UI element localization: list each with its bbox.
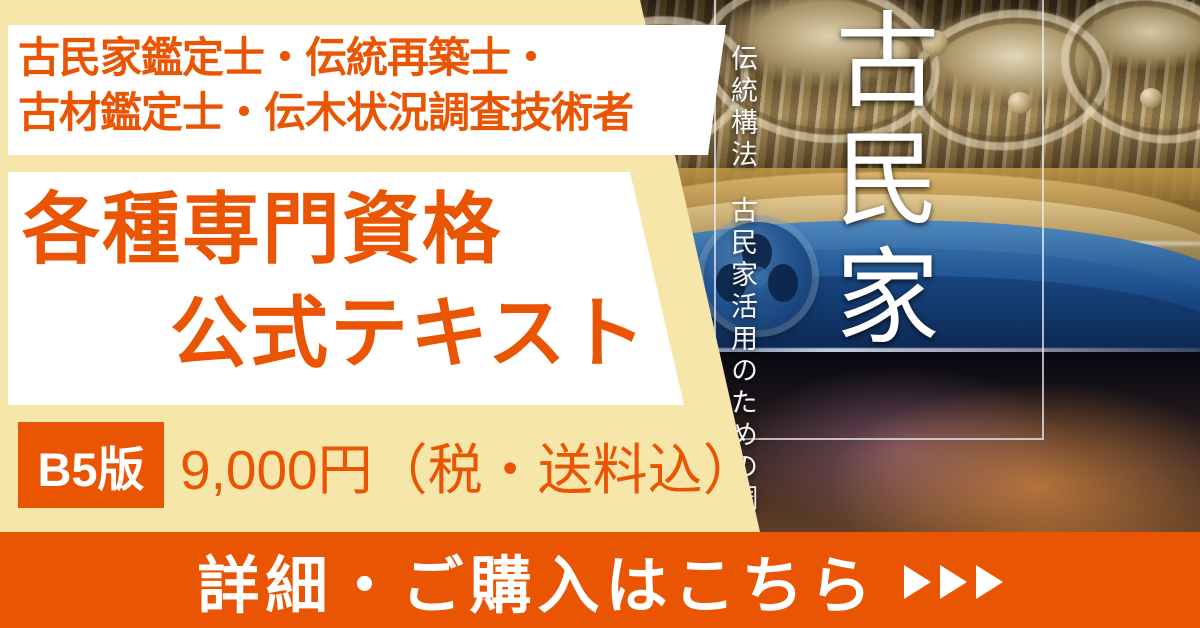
qualifications-headline: 古民家鑑定士・伝統再築士・ 古材鑑定士・伝木状況調査技術者	[18, 30, 718, 141]
main-title-line-1: 各種専門資格	[0, 178, 676, 282]
headline-line-1: 古民家鑑定士・伝統再築士・	[18, 30, 718, 85]
wood-bead	[1140, 88, 1162, 108]
format-badge: B5版	[18, 422, 164, 508]
price-text: 9,000円（税・送料込）	[180, 425, 758, 505]
cta-bar[interactable]: 詳細・ご購入はこちら	[0, 532, 1200, 628]
promo-banner: 古民家 伝統構法 古民家活用のための調査と再生の 古民家鑑定士・伝統再築士・ 古…	[0, 0, 1200, 628]
price-row: B5版 9,000円（税・送料込）	[18, 422, 758, 508]
triangle-right-icon	[904, 565, 931, 599]
cta-label: 詳細・ご購入はこちら	[197, 535, 877, 625]
triangle-right-icon	[940, 565, 967, 599]
main-title-line-2: 公式テキスト	[0, 282, 676, 386]
main-title: 各種専門資格 公式テキスト	[0, 178, 676, 385]
triangle-right-icon	[976, 565, 1003, 599]
cover-title: 古民家	[801, 6, 952, 360]
headline-line-2: 古材鑑定士・伝木状況調査技術者	[18, 85, 718, 140]
cover-subtitle-top: 伝統構法	[723, 44, 762, 172]
cta-arrow-group	[904, 565, 1003, 599]
